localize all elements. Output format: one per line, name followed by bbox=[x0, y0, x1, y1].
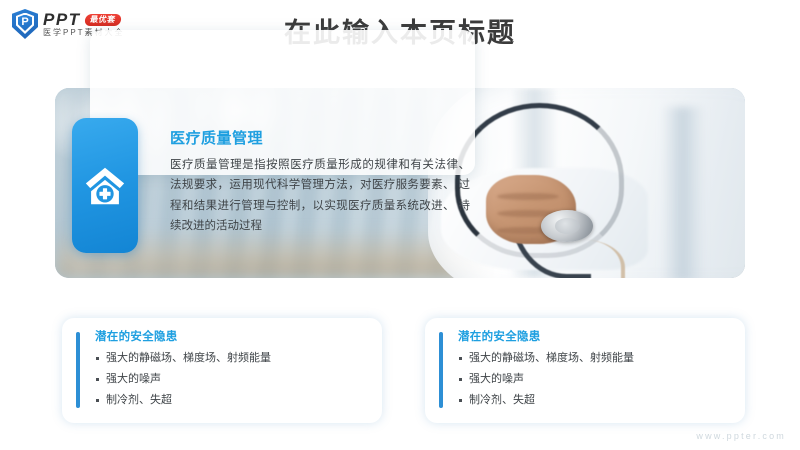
list-item: 制冷剂、失超 bbox=[95, 390, 372, 411]
card-bullet-list: 强大的静磁场、梯度场、射频能量 强大的噪声 制冷剂、失超 bbox=[95, 348, 372, 411]
coat-fold bbox=[662, 107, 703, 278]
stethoscope-chestpiece bbox=[541, 210, 593, 242]
banner-text-block: 医疗质量管理 医疗质量管理是指按照医疗质量形成的规律和有关法律、 法规要求，运用… bbox=[170, 130, 470, 237]
finger bbox=[497, 193, 559, 201]
hospital-cross-icon bbox=[84, 166, 126, 206]
list-item: 强大的静磁场、梯度场、射频能量 bbox=[458, 348, 735, 369]
card-accent-bar bbox=[439, 332, 443, 408]
list-item: 制冷剂、失超 bbox=[458, 390, 735, 411]
info-card-left[interactable]: 潜在的安全隐患 强大的静磁场、梯度场、射频能量 强大的噪声 制冷剂、失超 bbox=[62, 318, 382, 423]
hospital-icon-tile bbox=[72, 118, 138, 253]
card-heading: 潜在的安全隐患 bbox=[95, 329, 372, 346]
list-item: 强大的噪声 bbox=[95, 369, 372, 390]
banner-body-text: 医疗质量管理是指按照医疗质量形成的规律和有关法律、 法规要求，运用现代科学管理方… bbox=[170, 155, 470, 237]
banner-heading: 医疗质量管理 bbox=[170, 130, 470, 148]
info-card-right[interactable]: 潜在的安全隐患 强大的静磁场、梯度场、射频能量 强大的噪声 制冷剂、失超 bbox=[425, 318, 745, 423]
card-accent-bar bbox=[76, 332, 80, 408]
site-watermark: www.ppter.com bbox=[696, 432, 786, 441]
card-heading: 潜在的安全隐患 bbox=[458, 329, 735, 346]
list-item: 强大的噪声 bbox=[458, 369, 735, 390]
card-bullet-list: 强大的静磁场、梯度场、射频能量 强大的噪声 制冷剂、失超 bbox=[458, 348, 735, 411]
list-item: 强大的静磁场、梯度场、射频能量 bbox=[95, 348, 372, 369]
